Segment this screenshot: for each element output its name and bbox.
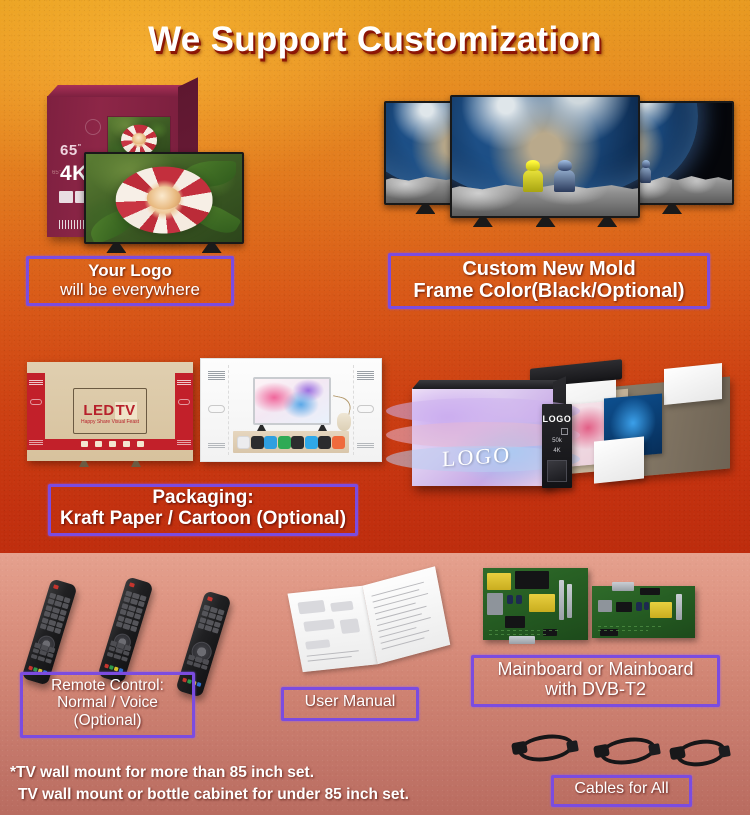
user-manual-booklet [295,585,445,665]
box-size-label: 65" [60,142,82,159]
caption-user-manual: User Manual [281,687,419,721]
caption-line-2: with DVB-T2 [471,679,720,699]
pack-slim-line-1: 50k [542,438,572,444]
caption-line-1: Mainboard or Mainboard [471,659,720,679]
pack-slim-spec-box: LOGO 50k 4K [542,404,572,488]
box-circle-graphic [85,119,101,135]
box-top-face [47,85,190,97]
manual-right-page [362,566,450,664]
kraft-bottom-stripe [45,439,175,450]
tv-legs [450,217,640,227]
tv-earth-center [450,95,640,218]
caption-cables: Cables for All [551,775,692,807]
caption-line-1: Packaging: [48,487,358,508]
caption-line-2: Frame Color(Black/Optional) [388,280,710,302]
cable-connector [648,743,661,756]
pack-slim-image [547,460,567,482]
footer-note-line-1: *TV wall mount for more than 85 inch set… [10,762,530,784]
cable-connector [566,740,579,753]
cable-plug [669,746,686,760]
kraft-paper-box: LEDTV Happy Share Visual Feast [27,362,193,461]
kraft-logo-led: LED [83,402,114,419]
remote-power-button [207,596,213,601]
kraft-tagline: Happy Share Visual Feast [74,419,146,425]
caption-line-2: will be everywhere [26,280,234,299]
mainboard-pcb-right [592,586,695,638]
mainboard-pcb-left [483,568,588,640]
pack-foam-bottom [594,436,644,483]
caption-text: Cables for All [551,780,692,798]
cartoon-app-icons [237,435,345,449]
caption-line-1: User Manual [281,693,419,711]
kraft-red-bar-left [27,373,45,450]
tv-with-rose-screen [84,152,244,244]
caption-line-2: Normal / Voice [20,694,195,711]
cable-plug [511,741,528,755]
caption-mainboard: Mainboard or Mainboard with DVB-T2 [471,655,720,707]
caption-line-2: Kraft Paper / Cartoon (Optional) [48,508,358,529]
caption-your-logo: Your Logo will be everywhere [26,256,234,306]
caption-remote-control: Remote Control: Normal / Voice (Optional… [20,672,195,738]
caption-packaging: Packaging: Kraft Paper / Cartoon (Option… [48,484,358,536]
caption-line-1: Custom New Mold [388,258,710,280]
caption-text: Remote Control: Normal / Voice (Optional… [20,677,195,729]
kraft-tv-feet [35,461,185,467]
pack-box-brand-logo: LOGO [442,442,511,473]
cable-connector [718,745,731,758]
pack-slim-brand: LOGO [542,414,572,424]
kraft-ledtv-logo: LEDTV [74,402,146,419]
cartoon-tv-image [253,377,331,425]
kraft-red-bar-right [175,373,193,450]
caption-line-1: Remote Control: [20,677,195,694]
page-title: We Support Customization [0,20,750,60]
abstract-screen [255,379,329,423]
caption-text: Packaging: Kraft Paper / Cartoon (Option… [48,487,358,530]
cartoon-right-column [353,365,377,455]
pack-logo-box-front: LOGO [412,388,554,486]
tv-earth-right [634,101,734,205]
box-size-unit: " [78,144,82,151]
remote-power-button [53,584,59,589]
remote-keypad-lower [29,642,56,669]
pack-slim-line-2: 4K [542,448,572,454]
caption-text: Your Logo will be everywhere [26,261,234,299]
kraft-logo-tv: TV [115,402,137,419]
remote-keypad-lower [105,640,132,667]
power-cable-1 [518,735,574,761]
cartoon-printed-box [200,358,382,462]
kraft-tv-illustration: LEDTV Happy Share Visual Feast [73,388,147,434]
caption-text: Custom New Mold Frame Color(Black/Option… [388,258,710,303]
pack-foam-top-right [664,363,722,405]
rose-screen-image [86,154,242,242]
tv-panel [84,152,244,244]
cartoon-vase-decoration [337,413,351,431]
earth-moon-scene [636,103,732,203]
power-cable-2 [600,738,656,764]
footer-note-line-2: TV wall mount or bottle cabinet for unde… [10,784,530,806]
caption-text: Mainboard or Mainboard with DVB-T2 [471,659,720,699]
tv-panel [450,95,640,218]
logo-packaging-arrangement: LOGO LOGO 50k 4K [418,360,736,485]
tv-panel [634,101,734,205]
pack-box-top-edge [412,380,562,389]
footer-note: *TV wall mount for more than 85 inch set… [10,762,530,806]
remote-power-button [129,582,135,587]
caption-text: User Manual [281,693,419,711]
caption-line-3: (Optional) [20,712,195,729]
poster-root: We Support Customization 65" 65" 4K [0,0,750,815]
tv-legs [634,204,734,214]
cartoon-left-column [205,365,229,455]
power-cable-3 [676,740,726,766]
tv-legs [84,243,244,253]
earth-moon-scene [452,97,638,216]
caption-custom-mold: Custom New Mold Frame Color(Black/Option… [388,253,710,309]
cable-plug [593,744,610,758]
caption-line-1: Cables for All [551,780,692,798]
caption-line-1: Your Logo [26,261,234,280]
pack-slim-badge [561,428,568,435]
